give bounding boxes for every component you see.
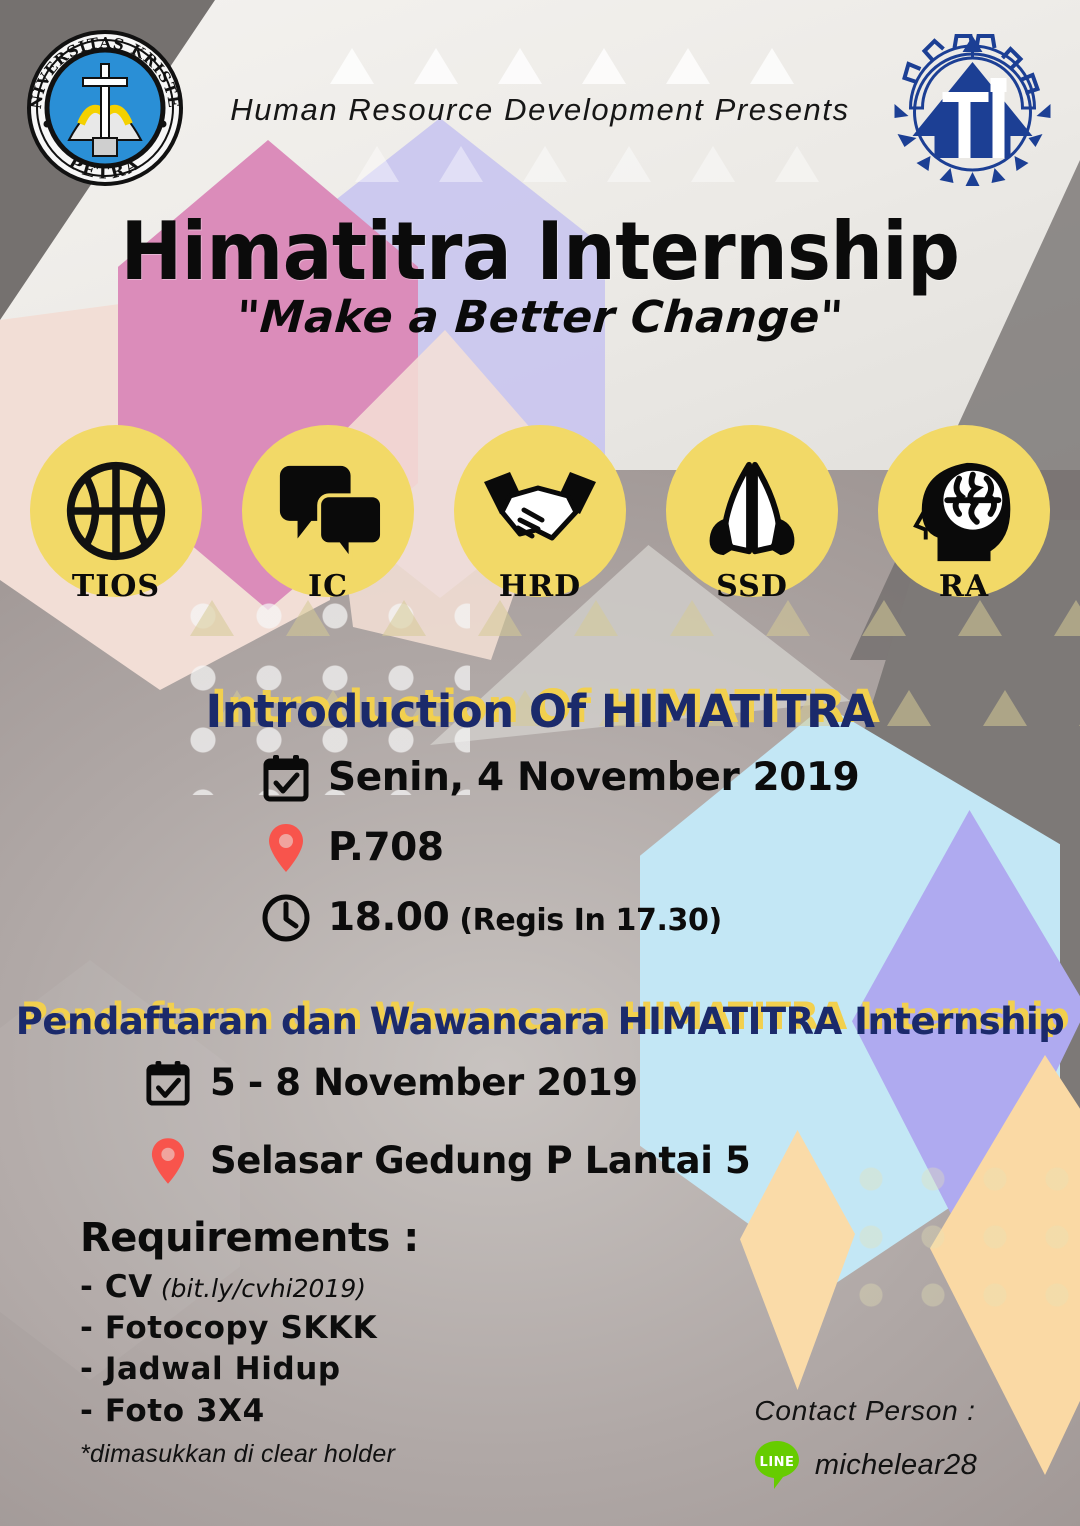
detail-text: Senin, 4 November 2019 [328,758,859,799]
detail-text: P.708 [328,828,444,869]
basketball-icon [62,457,170,565]
requirements-block: Requirements : - CV(bit.ly/cvhi2019) - F… [80,1215,419,1469]
detail-row-location: P.708 [258,820,859,876]
requirement-label: - CV [80,1269,153,1305]
head-brain-icon [907,457,1022,565]
contact-row[interactable]: LINE michelear28 [700,1439,1030,1491]
detail-time-value: 18.00 [328,895,449,940]
requirement-item: - Foto 3X4 [80,1391,419,1432]
contact-block: Contact Person : LINE michelear28 [700,1395,1030,1491]
division-label: TIOS [30,569,202,604]
contact-label: Contact Person : [700,1395,1030,1427]
detail-text: 5 - 8 November 2019 [210,1064,638,1103]
poster-title: Himatitra Internship [43,205,1037,298]
division-list: TIOS IC [30,425,1050,600]
requirement-item: - Jadwal Hidup [80,1349,419,1390]
division-item-tios: TIOS [30,425,202,600]
detail-row-date: Senin, 4 November 2019 [258,750,859,806]
presents-line: Human Resource Development Presents [0,92,1080,128]
praying-hands-icon [697,457,807,565]
clock-icon [258,890,314,946]
division-label: RA [878,569,1050,604]
location-pin-icon [140,1133,196,1189]
registration-details: 5 - 8 November 2019 Selasar Gedung P Lan… [140,1055,750,1203]
section-heading-introduction: Introduction Of HIMATITRA [0,685,1080,738]
requirement-item: - Fotocopy SKKK [80,1308,419,1349]
introduction-details: Senin, 4 November 2019 P.708 [258,750,859,960]
division-item-ic: IC [242,425,414,600]
detail-text: Selasar Gedung P Lantai 5 [210,1142,750,1181]
requirement-url: (bit.ly/cvhi2019) [161,1274,366,1303]
location-pin-icon [258,820,314,876]
svg-text:LINE: LINE [759,1455,794,1470]
division-label: HRD [454,569,626,604]
requirement-item: - CV(bit.ly/cvhi2019) [80,1267,419,1308]
detail-row-time: 18.00(Regis In 17.30) [258,890,859,946]
detail-time-note: (Regis In 17.30) [459,903,721,938]
division-item-ra: RA [878,425,1050,600]
calendar-check-icon [140,1055,196,1111]
division-item-ssd: SSD [666,425,838,600]
handshake-icon [480,466,600,556]
division-label: IC [242,569,414,604]
speech-bubbles-icon [274,460,382,562]
detail-row-date: 5 - 8 November 2019 [140,1055,750,1111]
poster-tagline: "Make a Better Change" [0,292,1080,343]
requirements-note: *dimasukkan di clear holder [80,1440,419,1469]
detail-row-location: Selasar Gedung P Lantai 5 [140,1133,750,1189]
detail-text: 18.00(Regis In 17.30) [328,898,722,939]
section-heading-registration: Pendaftaran dan Wawancara HIMATITRA Inte… [0,1000,1080,1043]
poster-canvas: UNIVERSITAS KRISTEN PETRA [0,0,1080,1526]
contact-id: michelear28 [815,1449,977,1482]
calendar-check-icon [258,750,314,806]
division-item-hrd: HRD [454,425,626,600]
line-icon: LINE [753,1439,801,1491]
requirements-title: Requirements : [80,1215,419,1261]
division-label: SSD [666,569,838,604]
